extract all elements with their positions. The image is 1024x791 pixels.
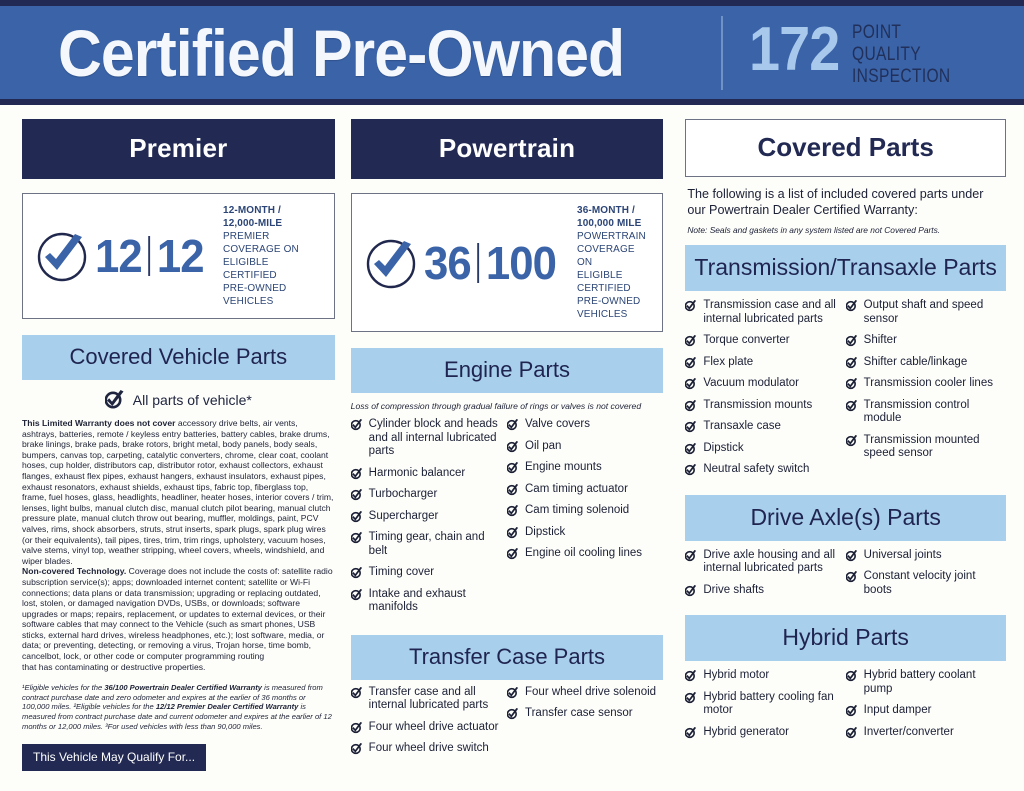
tech-body: Coverage does not include the costs of: … xyxy=(22,566,333,661)
list-item: Dipstick xyxy=(685,442,839,456)
powertrain-badge-text: 36-MONTH / 100,000 MILE POWERTRAIN COVER… xyxy=(577,204,649,321)
premier-coverage-badge: 12 12 12-MONTH / 12,000-MILE PREMIER COV… xyxy=(22,193,335,319)
all-parts-row: All parts of vehicle* xyxy=(22,390,335,410)
check-icon xyxy=(846,378,858,390)
list-item: Four wheel drive solenoid xyxy=(507,686,657,700)
covered-parts-heading: Covered Parts xyxy=(685,119,1006,177)
list-item: Flex plate xyxy=(685,356,839,370)
inspection-line-point: POINT xyxy=(852,23,951,42)
list-item: Universal joints xyxy=(846,549,1000,563)
list-item: Drive axle housing and all internal lubr… xyxy=(685,549,839,576)
covered-parts-intro: The following is a list of included cove… xyxy=(687,187,1004,218)
list-item-label: Valve covers xyxy=(525,418,590,432)
list-item-label: Constant velocity joint boots xyxy=(864,570,1000,597)
footnote-2a: ²Eligible vehicles for the xyxy=(74,702,156,711)
list-item: Four wheel drive actuator xyxy=(351,721,501,735)
premier-badge-line4: PRE-OWNED VEHICLES xyxy=(223,282,318,308)
list-item-label: Transmission case and all internal lubri… xyxy=(703,299,839,326)
list-item: Transmission mounted speed sensor xyxy=(846,434,1000,461)
premier-badge-text: 12-MONTH / 12,000-MILE PREMIER COVERAGE … xyxy=(223,204,318,308)
powertrain-months: 36 xyxy=(424,240,471,286)
engine-parts-note: Loss of compression through gradual fail… xyxy=(351,401,664,412)
page-header: Certified Pre-Owned 172 POINT QUALITY IN… xyxy=(0,6,1024,99)
check-icon xyxy=(351,567,363,579)
list-item: Harmonic balancer xyxy=(351,467,501,481)
footnote-3: ³For used vehicles with less than 90,000… xyxy=(105,722,262,731)
list-item: Engine mounts xyxy=(507,461,657,475)
list-item: Timing cover xyxy=(351,566,501,580)
check-icon xyxy=(507,419,519,431)
check-icon xyxy=(507,527,519,539)
section-parts-right: Hybrid battery coolant pumpInput damperI… xyxy=(846,669,1006,747)
transfer-case-parts-bar: Transfer Case Parts xyxy=(351,635,664,680)
inspection-badge: 172 POINT QUALITY INSPECTION xyxy=(749,17,972,89)
list-item-label: Hybrid battery coolant pump xyxy=(864,669,1000,696)
list-item-label: Engine mounts xyxy=(525,461,602,475)
list-item: Valve covers xyxy=(507,418,657,432)
check-icon xyxy=(685,300,697,312)
inspection-sublabel: POINT QUALITY INSPECTION xyxy=(852,23,951,89)
list-item-label: Input damper xyxy=(864,704,932,718)
premier-months: 12 xyxy=(95,233,142,279)
badge-separator xyxy=(148,236,150,276)
check-icon xyxy=(507,505,519,517)
inspection-line-quality: QUALITY xyxy=(852,45,951,64)
powertrain-miles: 100 xyxy=(486,240,556,286)
check-icon xyxy=(507,708,519,720)
list-item-label: Turbocharger xyxy=(369,488,438,502)
list-item-label: Transaxle case xyxy=(703,420,781,434)
list-item: Transfer case sensor xyxy=(507,707,657,721)
premier-term-numbers: 12 12 xyxy=(95,233,204,279)
check-icon xyxy=(507,462,519,474)
check-circle-icon xyxy=(364,236,418,290)
list-item: Transfer case and all internal lubricate… xyxy=(351,686,501,713)
list-item: Four wheel drive switch xyxy=(351,742,501,756)
check-icon xyxy=(685,670,697,682)
badge-separator xyxy=(477,243,479,283)
list-item: Transmission case and all internal lubri… xyxy=(685,299,839,326)
engine-parts-left: Cylinder block and heads and all interna… xyxy=(351,418,507,623)
powertrain-badge-line1: 36-MONTH / 100,000 MILE xyxy=(577,204,649,230)
list-item-label: Hybrid battery cooling fan motor xyxy=(703,691,839,718)
list-item: Output shaft and speed sensor xyxy=(846,299,1000,326)
tech-label: Non-covered Technology. xyxy=(22,566,126,576)
covered-vehicle-parts-bar: Covered Vehicle Parts xyxy=(22,335,335,380)
section-parts-left: Hybrid motorHybrid battery cooling fan m… xyxy=(685,669,845,747)
list-item-label: Cam timing solenoid xyxy=(525,504,629,518)
list-item: Drive shafts xyxy=(685,584,839,598)
section-title-bar: Transmission/Transaxle Parts xyxy=(685,245,1006,291)
section-title-bar: Hybrid Parts xyxy=(685,615,1006,661)
powertrain-term-numbers: 36 100 xyxy=(424,240,556,286)
list-item-label: Transfer case sensor xyxy=(525,707,633,721)
premier-fineprint: This Limited Warranty does not cover acc… xyxy=(22,418,335,672)
check-icon xyxy=(685,335,697,347)
check-icon xyxy=(351,419,363,431)
list-item: Transaxle case xyxy=(685,420,839,434)
powertrain-badge-line3: ELIGIBLE CERTIFIED xyxy=(577,269,649,295)
list-item: Hybrid battery coolant pump xyxy=(846,669,1000,696)
check-circle-icon xyxy=(35,229,89,283)
list-item: Torque converter xyxy=(685,334,839,348)
check-icon xyxy=(351,687,363,699)
list-item-label: Engine oil cooling lines xyxy=(525,547,642,561)
list-item-label: Dipstick xyxy=(525,526,565,540)
list-item-label: Transmission mounts xyxy=(703,399,812,413)
check-icon xyxy=(685,443,697,455)
list-item-label: Oil pan xyxy=(525,440,561,454)
premier-column: Premier 12 12 12-MONTH / 12,000-MILE PRE… xyxy=(14,119,343,771)
list-item: Transmission control module xyxy=(846,399,1000,426)
list-item: Input damper xyxy=(846,704,1000,718)
section-parts-grid: Hybrid motorHybrid battery cooling fan m… xyxy=(685,669,1006,747)
list-item-label: Torque converter xyxy=(703,334,789,348)
list-item-label: Transmission cooler lines xyxy=(864,377,993,391)
list-item: Oil pan xyxy=(507,440,657,454)
inspection-line-inspection: INSPECTION xyxy=(852,67,951,86)
list-item: Constant velocity joint boots xyxy=(846,570,1000,597)
check-icon xyxy=(685,378,697,390)
check-icon xyxy=(846,435,858,447)
check-icon xyxy=(685,400,697,412)
list-item: Neutral safety switch xyxy=(685,463,839,477)
check-icon xyxy=(351,743,363,755)
covered-parts-note: Note: Seals and gaskets in any system li… xyxy=(687,225,1004,235)
check-icon xyxy=(351,489,363,501)
engine-parts-bar: Engine Parts xyxy=(351,348,664,393)
list-item-label: Shifter cable/linkage xyxy=(864,356,968,370)
engine-parts-grid: Cylinder block and heads and all interna… xyxy=(351,418,664,623)
powertrain-badge-line4: PRE-OWNED VEHICLES xyxy=(577,295,649,321)
list-item: Intake and exhaust manifolds xyxy=(351,588,501,615)
list-item-label: Timing cover xyxy=(369,566,434,580)
section-parts-grid: Transmission case and all internal lubri… xyxy=(685,299,1006,485)
page-title: Certified Pre-Owned xyxy=(58,20,624,86)
list-item-label: Four wheel drive solenoid xyxy=(525,686,656,700)
list-item-label: Shifter xyxy=(864,334,897,348)
engine-parts-right: Valve coversOil panEngine mountsCam timi… xyxy=(507,418,663,623)
check-icon xyxy=(685,692,697,704)
premier-miles: 12 xyxy=(157,233,204,279)
list-item-label: Inverter/converter xyxy=(864,726,954,740)
check-icon xyxy=(507,441,519,453)
exclusions-body: accessory drive belts, air vents, ashtra… xyxy=(22,418,333,566)
check-icon xyxy=(846,670,858,682)
check-icon xyxy=(685,357,697,369)
list-item: Engine oil cooling lines xyxy=(507,547,657,561)
list-item: Vacuum modulator xyxy=(685,377,839,391)
list-item: Hybrid motor xyxy=(685,669,839,683)
list-item-label: Dipstick xyxy=(703,442,743,456)
check-icon xyxy=(685,585,697,597)
list-item-label: Transmission mounted speed sensor xyxy=(864,434,1000,461)
premier-badge-line2: PREMIER COVERAGE ON xyxy=(223,230,318,256)
check-icon xyxy=(507,548,519,560)
section-title-bar: Drive Axle(s) Parts xyxy=(685,495,1006,541)
list-item: Timing gear, chain and belt xyxy=(351,531,501,558)
list-item-label: Four wheel drive actuator xyxy=(369,721,499,735)
section-parts-right: Universal jointsConstant velocity joint … xyxy=(846,549,1006,606)
check-icon xyxy=(351,468,363,480)
list-item: Shifter xyxy=(846,334,1000,348)
powertrain-badge-line2: POWERTRAIN COVERAGE ON xyxy=(577,230,649,269)
all-parts-label: All parts of vehicle* xyxy=(133,392,252,408)
check-icon xyxy=(507,687,519,699)
tech-body-2: that has contaminating or destructive pr… xyxy=(22,662,335,673)
check-icon xyxy=(105,390,125,410)
list-item-label: Transmission control module xyxy=(864,399,1000,426)
check-icon xyxy=(846,335,858,347)
footnote-2b: 12/12 Premier Dealer Certified Warranty xyxy=(156,702,299,711)
qualify-button[interactable]: This Vehicle May Qualify For... xyxy=(22,744,206,771)
list-item-label: Cylinder block and heads and all interna… xyxy=(369,418,501,459)
check-icon xyxy=(846,550,858,562)
premier-footnotes: ¹Eligible vehicles for the 36/100 Powert… xyxy=(22,683,335,731)
check-icon xyxy=(351,511,363,523)
list-item-label: Flex plate xyxy=(703,356,753,370)
list-item-label: Drive axle housing and all internal lubr… xyxy=(703,549,839,576)
check-icon xyxy=(846,400,858,412)
list-item-label: Drive shafts xyxy=(703,584,764,598)
inspection-point-count: 172 xyxy=(749,19,839,81)
covered-parts-column: Covered Parts The following is a list of… xyxy=(671,119,1010,771)
footnote-1a: ¹Eligible vehicles for the xyxy=(22,683,104,692)
content-columns: Premier 12 12 12-MONTH / 12,000-MILE PRE… xyxy=(0,105,1024,771)
list-item-label: Transfer case and all internal lubricate… xyxy=(369,686,501,713)
list-item-label: Four wheel drive switch xyxy=(369,742,489,756)
transfer-parts-right: Four wheel drive solenoidTransfer case s… xyxy=(507,686,663,764)
header-divider xyxy=(721,16,723,90)
transfer-parts-grid: Transfer case and all internal lubricate… xyxy=(351,686,664,764)
list-item: Cylinder block and heads and all interna… xyxy=(351,418,501,459)
check-icon xyxy=(351,722,363,734)
list-item: Cam timing solenoid xyxy=(507,504,657,518)
check-icon xyxy=(846,357,858,369)
exclusions-label: This Limited Warranty does not cover xyxy=(22,418,175,428)
check-icon xyxy=(846,727,858,739)
section-parts-left: Drive axle housing and all internal lubr… xyxy=(685,549,845,606)
list-item: Hybrid generator xyxy=(685,726,839,740)
premier-heading: Premier xyxy=(22,119,335,179)
section-parts-left: Transmission case and all internal lubri… xyxy=(685,299,845,485)
list-item: Hybrid battery cooling fan motor xyxy=(685,691,839,718)
list-item-label: Neutral safety switch xyxy=(703,463,809,477)
list-item-label: Hybrid generator xyxy=(703,726,789,740)
check-icon xyxy=(685,464,697,476)
list-item: Shifter cable/linkage xyxy=(846,356,1000,370)
list-item: Inverter/converter xyxy=(846,726,1000,740)
cpo-brochure-page: Certified Pre-Owned 172 POINT QUALITY IN… xyxy=(0,0,1024,791)
list-item: Cam timing actuator xyxy=(507,483,657,497)
list-item-label: Harmonic balancer xyxy=(369,467,466,481)
section-parts-right: Output shaft and speed sensorShifterShif… xyxy=(846,299,1006,485)
check-icon xyxy=(351,589,363,601)
list-item: Dipstick xyxy=(507,526,657,540)
section-parts-grid: Drive axle housing and all internal lubr… xyxy=(685,549,1006,606)
list-item: Transmission cooler lines xyxy=(846,377,1000,391)
list-item-label: Output shaft and speed sensor xyxy=(864,299,1000,326)
transfer-parts-left: Transfer case and all internal lubricate… xyxy=(351,686,507,764)
list-item-label: Timing gear, chain and belt xyxy=(369,531,501,558)
check-icon xyxy=(846,705,858,717)
premier-badge-line3: ELIGIBLE CERTIFIED xyxy=(223,256,318,282)
list-item-label: Supercharger xyxy=(369,510,439,524)
list-item-label: Intake and exhaust manifolds xyxy=(369,588,501,615)
list-item: Supercharger xyxy=(351,510,501,524)
check-icon xyxy=(685,421,697,433)
check-icon xyxy=(846,300,858,312)
footnote-1b: 36/100 Powertrain Dealer Certified Warra… xyxy=(104,683,262,692)
powertrain-column: Powertrain 36 100 36-MONTH / 100,000 MIL… xyxy=(343,119,672,771)
check-icon xyxy=(685,550,697,562)
powertrain-heading: Powertrain xyxy=(351,119,664,179)
powertrain-coverage-badge: 36 100 36-MONTH / 100,000 MILE POWERTRAI… xyxy=(351,193,664,332)
check-icon xyxy=(846,571,858,583)
check-icon xyxy=(507,484,519,496)
list-item: Turbocharger xyxy=(351,488,501,502)
premier-badge-line1: 12-MONTH / 12,000-MILE xyxy=(223,204,318,230)
list-item-label: Cam timing actuator xyxy=(525,483,628,497)
check-icon xyxy=(685,727,697,739)
list-item: Transmission mounts xyxy=(685,399,839,413)
list-item-label: Vacuum modulator xyxy=(703,377,799,391)
check-icon xyxy=(351,532,363,544)
list-item-label: Hybrid motor xyxy=(703,669,769,683)
covered-parts-sections: Transmission/Transaxle PartsTransmission… xyxy=(685,245,1006,747)
list-item-label: Universal joints xyxy=(864,549,942,563)
